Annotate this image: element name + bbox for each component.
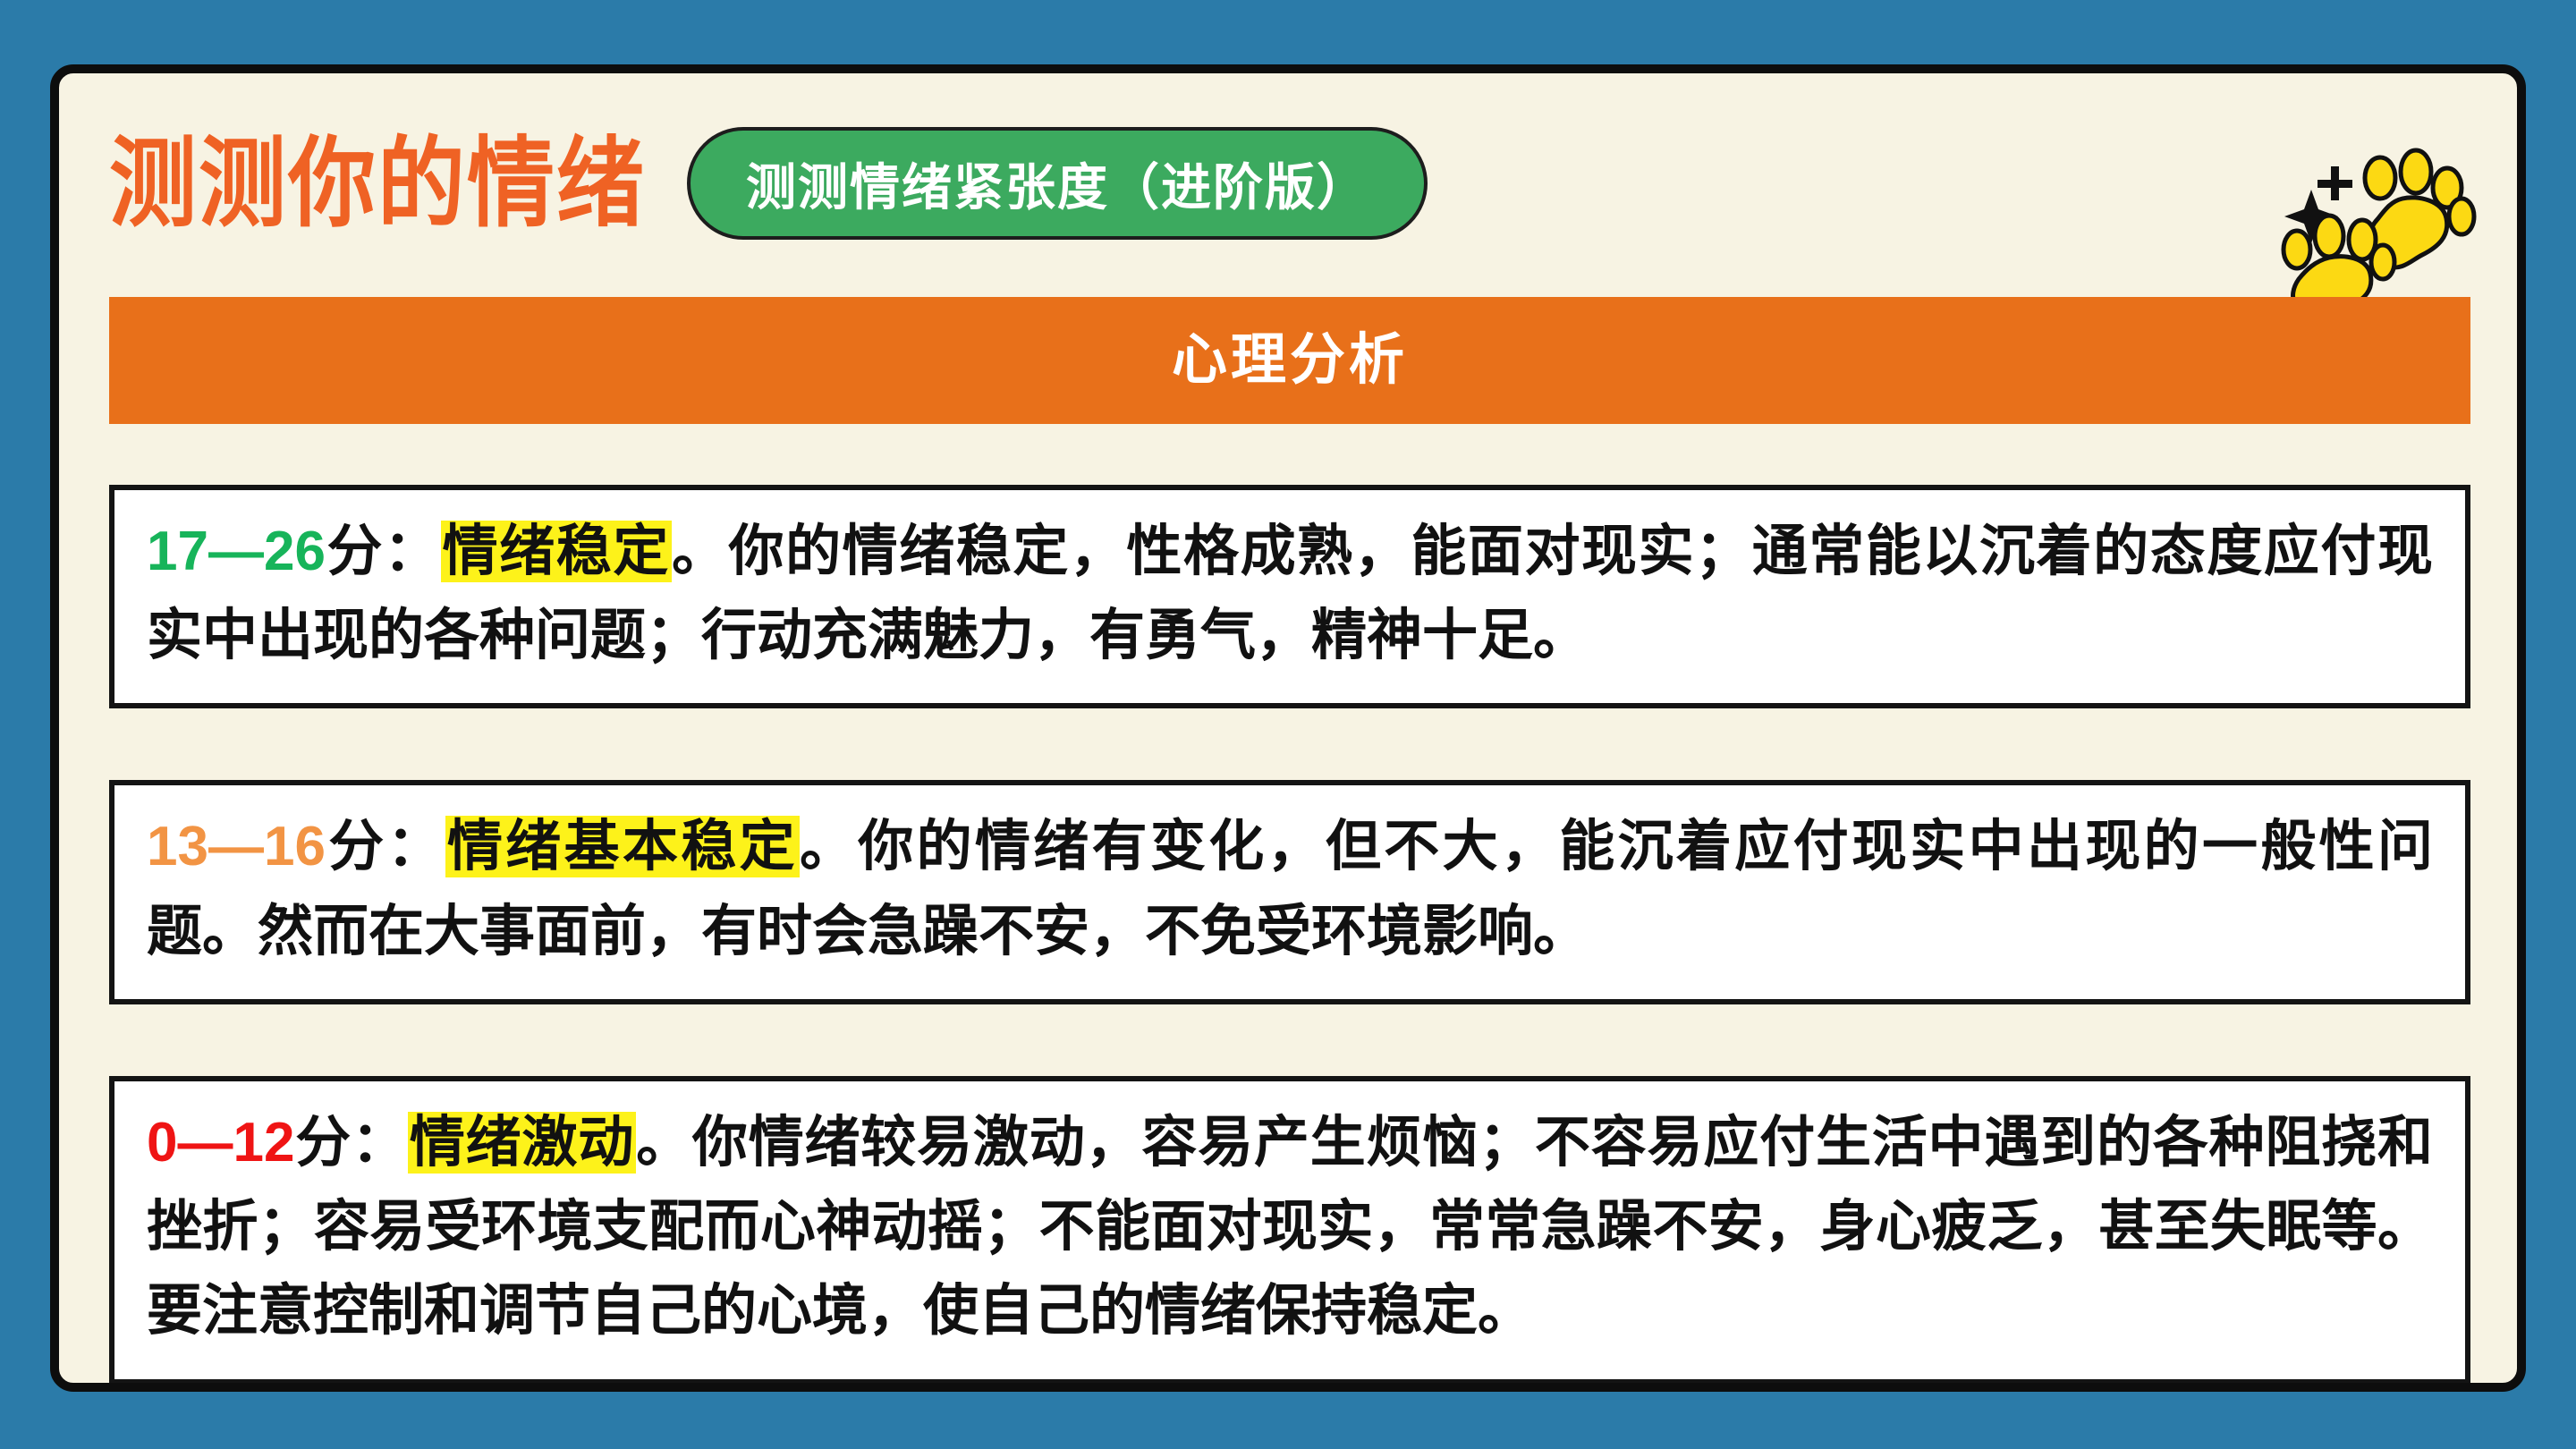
score-range: 13—16 bbox=[147, 816, 326, 877]
result-label-highlight: 情绪激动 bbox=[408, 1112, 636, 1174]
score-range: 17—26 bbox=[147, 521, 326, 582]
result-block: 17—26分：情绪稳定。你的情绪稳定，性格成熟，能面对现实；通常能以沉着的态度应… bbox=[109, 485, 2470, 708]
result-text: 13—16分：情绪基本稳定。你的情绪有变化，但不大，能沉着应付现实中出现的一般性… bbox=[147, 805, 2433, 973]
result-label-highlight: 情绪基本稳定 bbox=[445, 816, 800, 877]
result-text: 0—12分：情绪激动。你情绪较易激动，容易产生烦恼；不容易应付生活中遇到的各种阻… bbox=[147, 1101, 2433, 1354]
result-text: 17—26分：情绪稳定。你的情绪稳定，性格成熟，能面对现实；通常能以沉着的态度应… bbox=[147, 510, 2433, 678]
score-range: 0—12 bbox=[147, 1112, 294, 1174]
result-label-highlight: 情绪稳定 bbox=[441, 521, 672, 582]
section-title: 心理分析 bbox=[1172, 333, 1408, 388]
score-suffix: 分： bbox=[294, 1112, 407, 1174]
header: 测测你的情绪 测测情绪紧张度（进阶版） bbox=[109, 107, 2481, 259]
page-title: 测测你的情绪 bbox=[109, 134, 646, 233]
content-card: 测测你的情绪 测测情绪紧张度（进阶版） bbox=[50, 64, 2526, 1392]
subtitle-badge: 测测情绪紧张度（进阶版） bbox=[687, 127, 1428, 240]
slide-canvas: 测测你的情绪 测测情绪紧张度（进阶版） bbox=[0, 0, 2576, 1449]
score-suffix: 分： bbox=[326, 521, 441, 582]
result-block: 13—16分：情绪基本稳定。你的情绪有变化，但不大，能沉着应付现实中出现的一般性… bbox=[109, 780, 2470, 1004]
result-block: 0—12分：情绪激动。你情绪较易激动，容易产生烦恼；不容易应付生活中遇到的各种阻… bbox=[109, 1076, 2470, 1385]
results-list: 17—26分：情绪稳定。你的情绪稳定，性格成熟，能面对现实；通常能以沉着的态度应… bbox=[109, 485, 2470, 1385]
section-header-bar: 心理分析 bbox=[109, 297, 2470, 424]
score-suffix: 分： bbox=[326, 816, 445, 877]
